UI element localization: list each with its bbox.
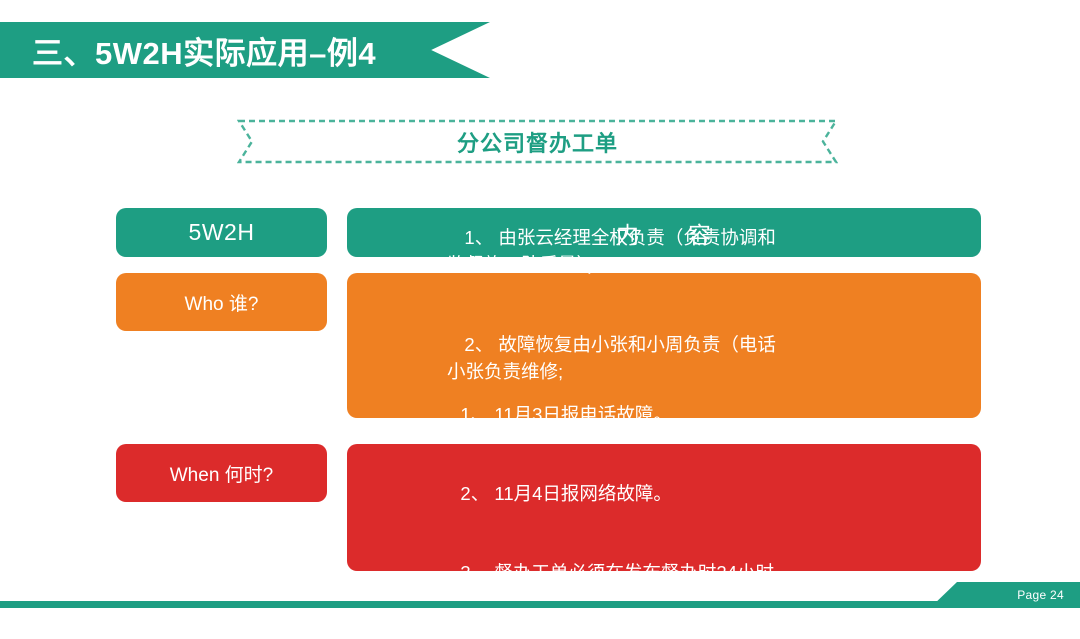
list-item: 1、11月3日报电话故障。	[409, 376, 981, 455]
row-key-label-who: Who 谁?	[185, 289, 259, 316]
page-title: 三、5W2H实际应用–例4	[32, 28, 376, 73]
row-value-when: 1、11月3日报电话故障。 2、11月4日报网络故障。 3、督办工单必须在发布督…	[347, 444, 981, 571]
slide-title-banner: 三、5W2H实际应用–例4	[0, 22, 490, 78]
page-number-label: Page 24	[1017, 588, 1064, 602]
list-item-text: 11月4日报网络故障。	[494, 483, 672, 504]
list-item-text: 11月3日报电话故障。	[494, 404, 672, 425]
footer-bar	[0, 601, 1080, 608]
list-item-number: 2、	[464, 332, 498, 359]
row-key-who: Who 谁?	[116, 273, 327, 331]
header-key-label: 5W2H	[189, 219, 255, 246]
list-item: 2、11月4日报网络故障。	[409, 455, 981, 534]
table-row-when: When 何时? 1、11月3日报电话故障。 2、11月4日报网络故障。 3、督…	[116, 444, 981, 571]
list-item-number: 1、	[460, 402, 494, 428]
subtitle-ribbon: 分公司督办工单	[237, 119, 838, 164]
list-item-number: 1、	[464, 225, 498, 252]
row-key-when: When 何时?	[116, 444, 327, 502]
list-item: 3、督办工单必须在发布督办时24小时 内完成。	[409, 534, 981, 639]
list-item: 1、由张云经理全权负责（负责协调和 监督施工队质量）；	[413, 198, 981, 305]
row-key-label-when: When 何时?	[170, 460, 273, 487]
list-item-number: 3、	[460, 560, 494, 586]
subtitle-text: 分公司督办工单	[237, 119, 838, 164]
list-item-number: 2、	[460, 481, 494, 507]
header-cell-5w2h: 5W2H	[116, 208, 327, 257]
5w2h-table: 5W2H 内 容 Who 谁? 1、由张云经理全权负责（负责协调和 监督施工队质…	[116, 208, 981, 587]
content-list-when: 1、11月3日报电话故障。 2、11月4日报网络故障。 3、督办工单必须在发布督…	[347, 376, 981, 639]
